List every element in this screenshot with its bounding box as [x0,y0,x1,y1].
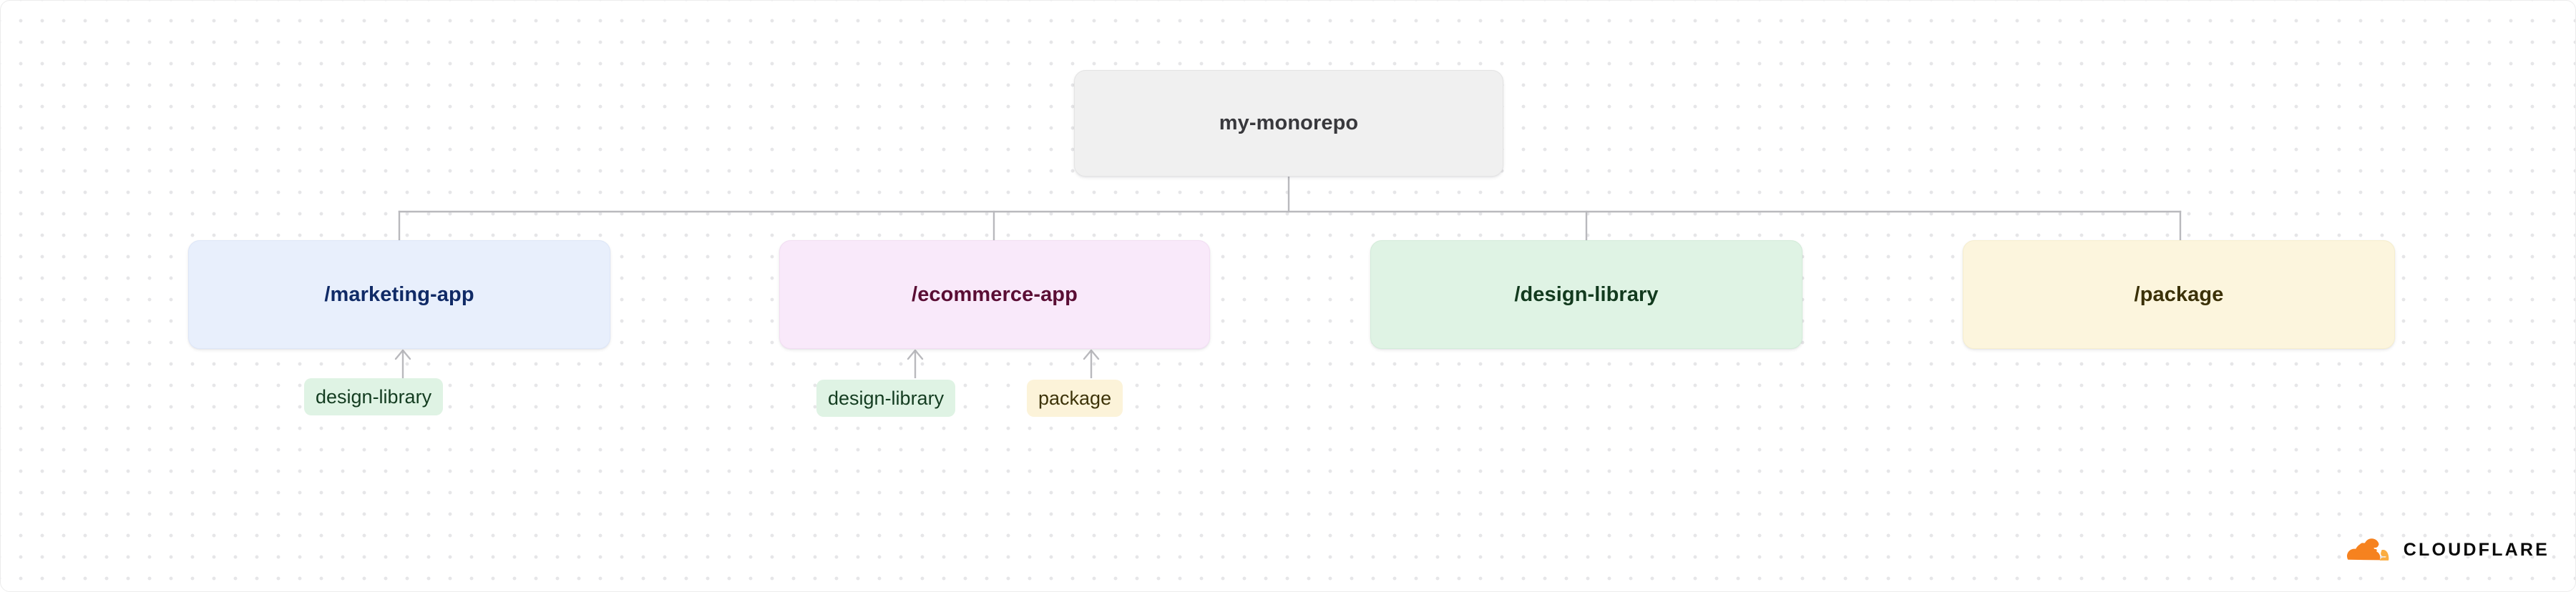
dependency-tag-label: package [1038,388,1111,410]
diagram-canvas: my-monorepo /marketing-app /ecommerce-ap… [0,0,2576,592]
arrowhead-marketing-design-library [396,350,410,359]
node-ecommerce-app[interactable]: /ecommerce-app [779,240,1210,349]
dependency-tag-ecommerce-design-library[interactable]: design-library [816,380,955,417]
dependency-tag-ecommerce-package[interactable]: package [1027,380,1123,417]
node-label: /marketing-app [324,283,474,307]
node-label: /package [2135,283,2224,307]
arrowhead-ecommerce-design-library [908,350,922,359]
node-design-library[interactable]: /design-library [1370,240,1802,349]
node-label: my-monorepo [1219,112,1358,135]
cloudflare-wordmark: CLOUDFLARE [2404,540,2550,561]
cloudflare-cloud-icon [2346,537,2394,563]
dependency-tag-marketing-design-library[interactable]: design-library [304,378,443,415]
dependency-tag-label: design-library [316,386,431,408]
node-my-monorepo[interactable]: my-monorepo [1074,70,1503,177]
node-label: /design-library [1514,283,1658,307]
node-label: /ecommerce-app [912,283,1078,307]
arrowhead-ecommerce-package [1084,350,1098,359]
cloudflare-logo: CLOUDFLARE [2346,537,2550,563]
dependency-tag-label: design-library [828,388,944,410]
node-package[interactable]: /package [1963,240,2395,349]
node-marketing-app[interactable]: /marketing-app [188,240,610,349]
